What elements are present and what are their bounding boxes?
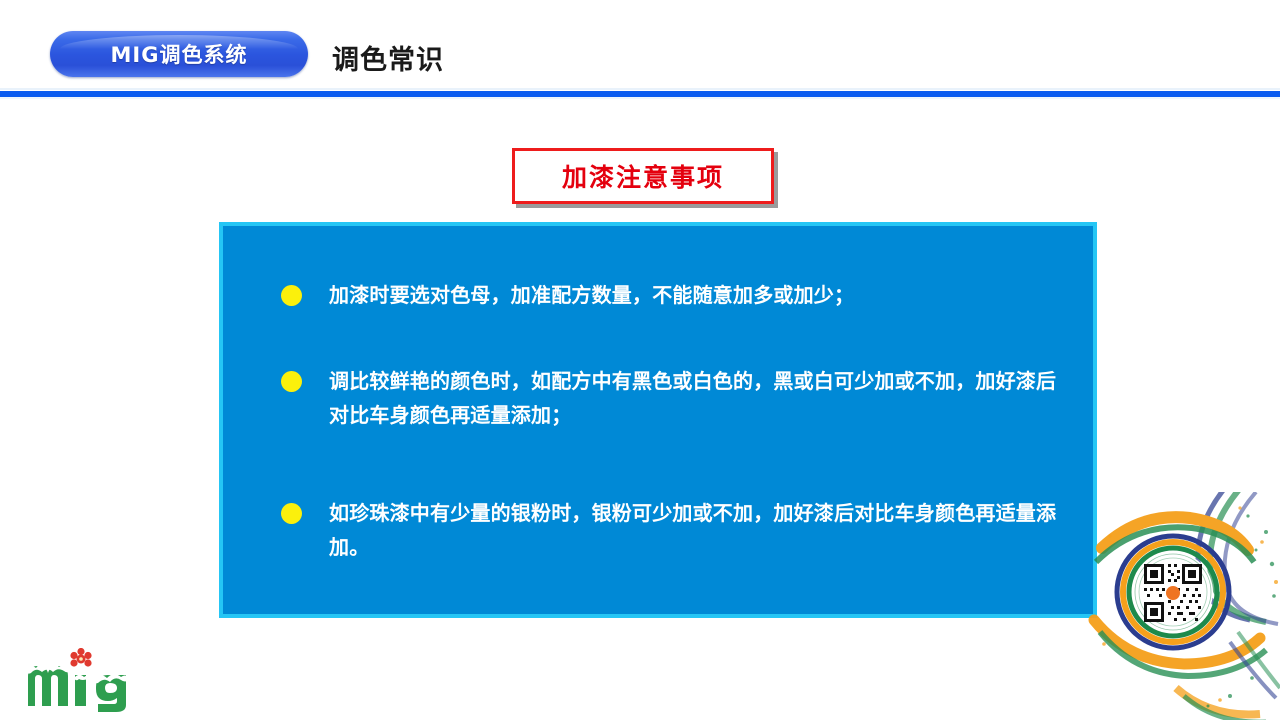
section-title-box: 加漆注意事项 xyxy=(512,148,774,204)
mig-logo-svg xyxy=(22,648,162,712)
bullet-dot-icon xyxy=(281,285,302,306)
bullet-dot-icon xyxy=(281,503,302,524)
logo-letter-i xyxy=(74,675,88,706)
bullet-dot-icon xyxy=(281,371,302,392)
content-panel: 加漆时要选对色母，加准配方数量，不能随意加多或加少； 调比较鲜艳的颜色时，如配方… xyxy=(219,222,1097,618)
qr-center-badge xyxy=(1166,586,1180,600)
list-item: 调比较鲜艳的颜色时，如配方中有黑色或白色的，黑或白可少加或不加，加好漆后对比车身… xyxy=(271,364,1061,432)
list-item: 加漆时要选对色母，加准配方数量，不能随意加多或加少； xyxy=(271,278,1061,312)
slide-header: MIG调色系统 调色常识 xyxy=(0,0,1280,98)
list-item: 如珍珠漆中有少量的银粉时，银粉可少加或不加，加好漆后对比车身颜色再适量添加。 xyxy=(271,496,1061,564)
page-title: 调色常识 xyxy=(332,38,444,77)
header-rule-shadow xyxy=(0,97,1280,99)
decoration-svg xyxy=(1080,492,1280,720)
list-item-text: 加漆时要选对色母，加准配方数量，不能随意加多或加少； xyxy=(329,283,854,307)
section-title-text: 加漆注意事项 xyxy=(562,158,724,194)
list-item-text: 如珍珠漆中有少量的银粉时，银粉可少加或不加，加好漆后对比车身颜色再适量添加。 xyxy=(329,501,1056,559)
brand-pill-label: MIG调色系统 xyxy=(111,39,248,69)
bullet-list: 加漆时要选对色母，加准配方数量，不能随意加多或加少； 调比较鲜艳的颜色时，如配方… xyxy=(271,278,1061,564)
slide-canvas: MIG调色系统 调色常识 加漆注意事项 加漆时要选对色母，加准配方数量，不能随意… xyxy=(0,0,1280,720)
logo-letter-m xyxy=(26,664,70,706)
section-title-group: 加漆注意事项 xyxy=(512,148,774,204)
logo-flower-icon xyxy=(70,648,91,667)
qr-code-brushstroke-graphic xyxy=(1080,492,1280,720)
header-rule-highlight xyxy=(0,88,1280,90)
mig-logo xyxy=(22,648,162,712)
list-item-text: 调比较鲜艳的颜色时，如配方中有黑色或白色的，黑或白可少加或不加，加好漆后对比车身… xyxy=(329,369,1056,427)
logo-letter-g xyxy=(94,674,129,712)
brand-pill[interactable]: MIG调色系统 xyxy=(50,31,308,77)
